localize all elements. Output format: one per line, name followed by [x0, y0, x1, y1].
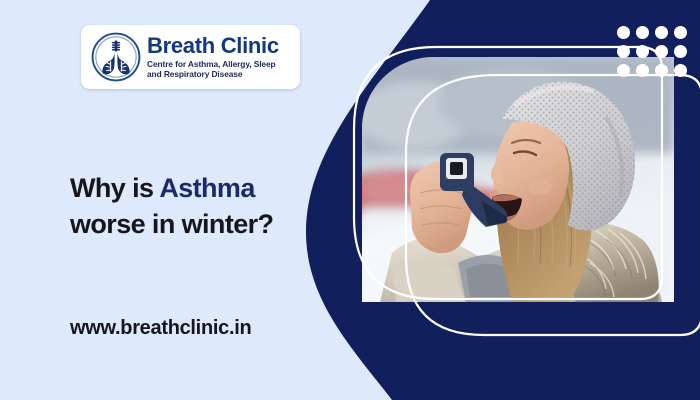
- headline-accent-word: Asthma: [159, 173, 254, 203]
- grid-dot: [674, 45, 687, 58]
- grid-dot: [674, 64, 687, 77]
- website-url[interactable]: www.breathclinic.in: [70, 317, 251, 340]
- grid-dot: [617, 64, 630, 77]
- page-title: Why is Asthma worse in winter?: [70, 170, 350, 243]
- grid-dot: [617, 26, 630, 39]
- headline-line1-prefix: Why is: [70, 173, 159, 203]
- photo-clip: [362, 57, 674, 302]
- grid-dot: [655, 45, 668, 58]
- grid-dot: [655, 26, 668, 39]
- logo-card[interactable]: Breath Clinic Centre for Asthma, Allergy…: [81, 25, 300, 89]
- headline-line2: worse in winter?: [70, 209, 273, 239]
- banner-root: Breath Clinic Centre for Asthma, Allergy…: [0, 0, 700, 400]
- lungs-icon: [89, 30, 143, 84]
- grid-dot: [636, 26, 649, 39]
- hero-photo: [362, 57, 674, 302]
- grid-dot: [674, 26, 687, 39]
- logo-tagline: Centre for Asthma, Allergy, Sleep and Re…: [147, 59, 292, 80]
- grid-dot: [655, 64, 668, 77]
- grid-dot: [636, 64, 649, 77]
- grid-dot: [617, 45, 630, 58]
- dot-grid-decoration: [617, 26, 687, 77]
- logo-title: Breath Clinic: [147, 35, 292, 57]
- grid-dot: [636, 45, 649, 58]
